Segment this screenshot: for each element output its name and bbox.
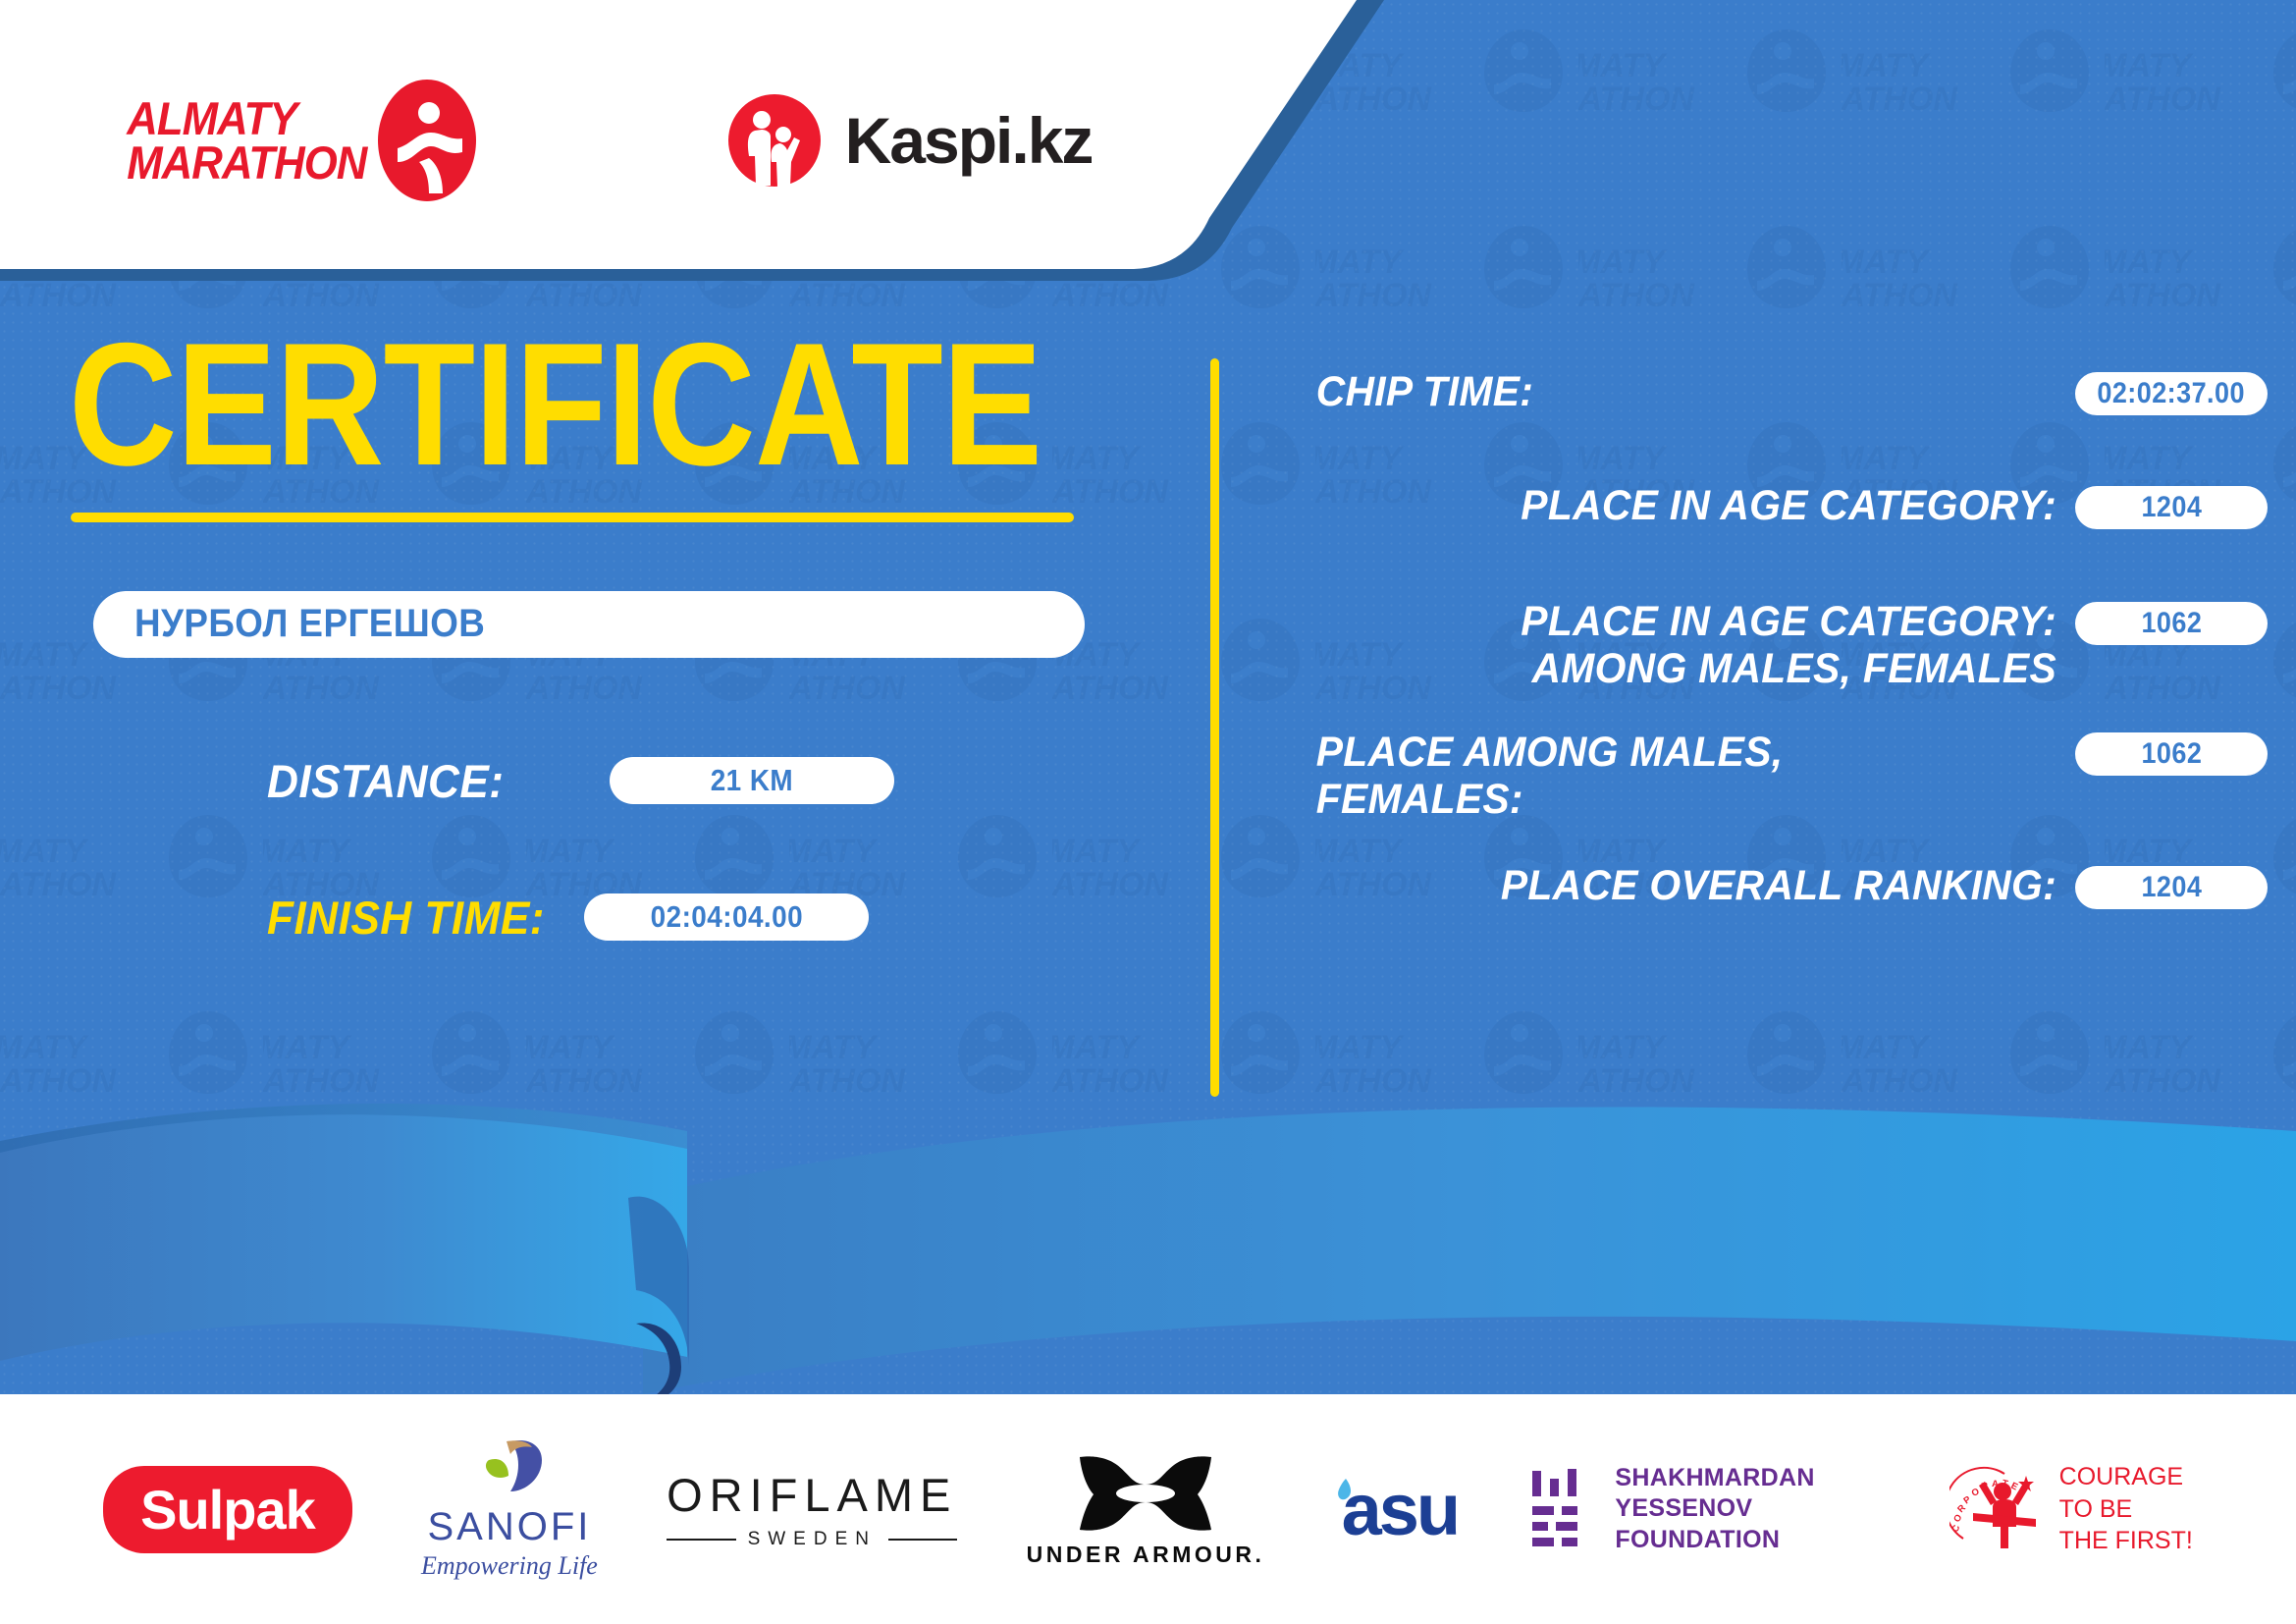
vertical-divider [1210,358,1219,1097]
place-age-category-label: PLACE IN AGE CATEGORY: [1316,482,2075,529]
header-panel: ALMATY MARATHON [0,0,1571,295]
sponsor-asu: asu [1334,1468,1459,1551]
oriflame-rule-left [667,1539,735,1541]
kaspi-family-icon [725,91,824,189]
finish-time-row: FINISH TIME: 02:04:04.00 [267,891,1158,945]
almaty-marathon-logo: ALMATY MARATHON [118,78,480,203]
distance-value-pill: 21 KM [610,757,894,804]
place-overall-label: PLACE OVERALL RANKING: [1316,862,2075,909]
place-age-category-value: 1204 [2141,491,2202,524]
courage-fund-arc-text: C [1949,1524,1962,1535]
finish-time-value: 02:04:04.00 [650,899,802,935]
sponsor-under-armour: UNDER ARMOUR. [1027,1451,1265,1568]
svg-text:O: O [1970,1487,1981,1499]
under-armour-icon [1072,1451,1219,1536]
place-age-category-gender-value: 1062 [2141,607,2202,640]
place-age-category-pill: 1204 [2075,486,2268,529]
place-among-gender-value: 1062 [2141,737,2202,771]
chip-time-value: 02:02:37.00 [2098,377,2246,410]
certificate-title: CERTIFICATE [69,324,1006,485]
oriflame-sub: SWEDEN [748,1529,877,1550]
sponsor-sulpak: Sulpak [103,1466,352,1553]
distance-row: DISTANCE: 21 KM [267,754,1158,808]
distance-value: 21 KM [711,763,793,798]
sponsor-yessenov-foundation: SHAKHMARDAN YESSENOV FOUNDATION [1526,1463,1880,1555]
participant-name: НУРБОЛ ЕРГЕШОВ [134,602,485,646]
stat-row-place-age-category-gender: PLACE IN AGE CATEGORY: AMONG MALES, FEMA… [1276,598,2268,692]
almaty-line-1: ALMATY [127,96,366,140]
sponsor-oriflame: ORIFLAME SWEDEN [667,1468,957,1550]
place-among-gender-label: PLACE AMONG MALES, FEMALES: [1316,729,2075,823]
place-overall-value: 1204 [2141,871,2202,904]
courage-line-2: TO BE [2059,1495,2133,1523]
sanofi-tagline: Empowering Life [421,1551,598,1581]
asu-wordmark: asu [1342,1468,1459,1551]
almaty-line-2: MARATHON [127,140,366,185]
participant-name-field: НУРБОЛ ЕРГЕШОВ [93,591,1085,658]
ribbon-banner: APRIL 21 st RUN FOR SENSATIONS [0,1080,2296,1404]
place-age-category-gender-pill: 1062 [2075,602,2268,645]
kaspi-wordmark: Kaspi.kz [845,103,1093,178]
courage-line-3: THE FIRST! [2059,1527,2193,1554]
sulpak-wordmark: Sulpak [140,1478,315,1542]
certificate-page: ALMATY MARATHON ALMATY MARATHON [0,0,2296,1624]
yessenov-mark-icon [1526,1467,1595,1551]
place-among-gender-pill: 1062 [2075,732,2268,776]
almaty-marathon-wordmark: ALMATY MARATHON [127,96,366,185]
place-age-category-gender-label: PLACE IN AGE CATEGORY: AMONG MALES, FEMA… [1316,598,2075,692]
oriflame-wordmark: ORIFLAME [667,1468,957,1522]
courage-runner-icon: C O R P O R A T E F [1949,1462,2048,1556]
finish-time-value-pill: 02:04:04.00 [584,893,869,941]
oriflame-rule-right [888,1539,957,1541]
stat-row-place-age-category: PLACE IN AGE CATEGORY: 1204 [1276,482,2268,529]
almaty-runner-icon [374,78,480,203]
courage-wordmark: COURAGE TO BE THE FIRST! [2059,1461,2193,1557]
chip-time-pill: 02:02:37.00 [2075,372,2268,415]
sanofi-wordmark: SANOFI [427,1505,591,1549]
title-underline [71,513,1074,522]
sponsor-strip: Sulpak SANOFI Empowering Life ORIFLAME S… [0,1394,2296,1624]
under-armour-wordmark: UNDER ARMOUR. [1027,1542,1265,1568]
yessenov-wordmark: SHAKHMARDAN YESSENOV FOUNDATION [1615,1463,1880,1555]
svg-text:P: P [1961,1493,1973,1506]
kaspi-logo: Kaspi.kz [725,91,1093,189]
place-overall-pill: 1204 [2075,866,2268,909]
stats-column: CHIP TIME: 02:02:37.00 PLACE IN AGE CATE… [1276,368,2268,948]
distance-label: DISTANCE: [267,754,504,808]
left-column: CERTIFICATE НУРБОЛ ЕРГЕШОВ DISTANCE: 21 … [0,324,1158,945]
yessenov-line-2: FOUNDATION [1615,1526,1780,1553]
sponsor-courage-fund: C O R P O R A T E F [1949,1461,2193,1557]
courage-line-1: COURAGE [2059,1463,2183,1490]
stat-row-place-overall: PLACE OVERALL RANKING: 1204 [1276,862,2268,909]
stat-row-place-among-gender: PLACE AMONG MALES, FEMALES: 1062 [1276,729,2268,823]
sanofi-icon [467,1438,552,1503]
yessenov-line-1: SHAKHMARDAN YESSENOV [1615,1464,1814,1522]
ribbon-shape [0,1080,2296,1404]
sponsor-sanofi: SANOFI Empowering Life [421,1438,598,1581]
finish-time-label: FINISH TIME: [267,891,545,945]
stat-row-chip-time: CHIP TIME: 02:02:37.00 [1276,368,2268,415]
chip-time-label: CHIP TIME: [1316,368,2075,415]
